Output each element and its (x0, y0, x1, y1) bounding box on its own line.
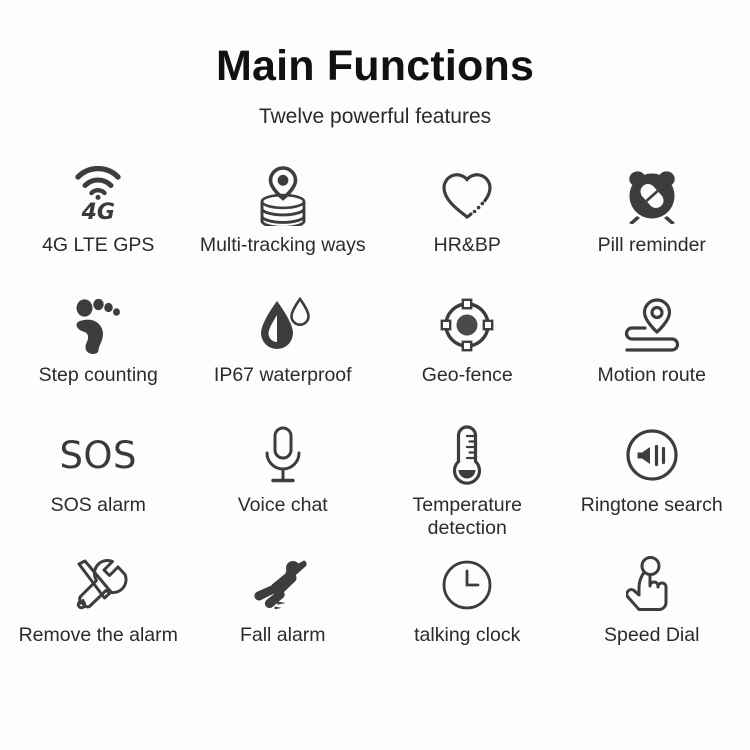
feature-item-ip67-waterproof[interactable]: IP67 waterproof (191, 288, 376, 418)
feature-item-fall-alarm[interactable]: Fall alarm (191, 548, 376, 678)
feature-item-temperature-detection[interactable]: Temperature detection (375, 418, 560, 548)
feature-label: HR&BP (434, 234, 501, 257)
feature-label: Ringtone search (581, 494, 723, 517)
thermometer-icon (427, 422, 507, 488)
multi-tracking-icon (243, 162, 323, 228)
feature-label: Remove the alarm (19, 624, 178, 647)
feature-label: Motion route (598, 364, 706, 387)
feature-label: Multi-tracking ways (200, 234, 366, 257)
geo-fence-icon (427, 292, 507, 358)
feature-item-remove-the-alarm[interactable]: Remove the alarm (6, 548, 191, 678)
feature-label: 4G LTE GPS (42, 234, 154, 257)
feature-item-pill-reminder[interactable]: Pill reminder (560, 158, 745, 288)
feature-item-voice-chat[interactable]: Voice chat (191, 418, 376, 548)
footprint-icon (58, 292, 138, 358)
feature-label: talking clock (414, 624, 520, 647)
wifi-4g-icon: 4G (58, 162, 138, 228)
speaker-volume-icon (612, 422, 692, 488)
sos-text-icon: SOS (58, 422, 138, 488)
feature-label: Voice chat (238, 494, 328, 517)
feature-label: Geo-fence (422, 364, 513, 387)
features-grid: 4G 4G LTE GPS Multi-trac (0, 158, 750, 678)
pill-alarm-clock-icon (612, 162, 692, 228)
feature-item-step-counting[interactable]: Step counting (6, 288, 191, 418)
feature-item-speed-dial[interactable]: Speed Dial (560, 548, 745, 678)
feature-item-hr-bp[interactable]: HR&BP (375, 158, 560, 288)
wrench-screwdriver-icon (58, 552, 138, 618)
falling-person-icon (243, 552, 323, 618)
feature-label: Speed Dial (604, 624, 699, 647)
page-header: Main Functions Twelve powerful features (0, 0, 750, 128)
badge-sos: SOS (59, 437, 137, 474)
water-drop-icon (243, 292, 323, 358)
heart-rate-icon (427, 162, 507, 228)
feature-label: SOS alarm (51, 494, 146, 517)
clock-icon (427, 552, 507, 618)
feature-item-multi-tracking-ways[interactable]: Multi-tracking ways (191, 158, 376, 288)
tap-hand-icon (612, 552, 692, 618)
page-subtitle: Twelve powerful features (0, 105, 750, 128)
feature-grid-page: Main Functions Twelve powerful features … (0, 0, 750, 750)
feature-item-sos-alarm[interactable]: SOS SOS alarm (6, 418, 191, 548)
feature-item-talking-clock[interactable]: talking clock (375, 548, 560, 678)
feature-label: Pill reminder (598, 234, 706, 257)
feature-label: Step counting (39, 364, 158, 387)
page-title: Main Functions (0, 44, 750, 89)
microphone-icon (243, 422, 323, 488)
feature-label: Fall alarm (240, 624, 326, 647)
motion-route-icon (612, 292, 692, 358)
feature-item-geo-fence[interactable]: Geo-fence (375, 288, 560, 418)
feature-label: IP67 waterproof (214, 364, 352, 387)
feature-item-4g-lte-gps[interactable]: 4G 4G LTE GPS (6, 158, 191, 288)
badge-4g: 4G (82, 202, 115, 224)
feature-label: Temperature detection (378, 494, 556, 539)
feature-item-ringtone-search[interactable]: Ringtone search (560, 418, 745, 548)
feature-item-motion-route[interactable]: Motion route (560, 288, 745, 418)
